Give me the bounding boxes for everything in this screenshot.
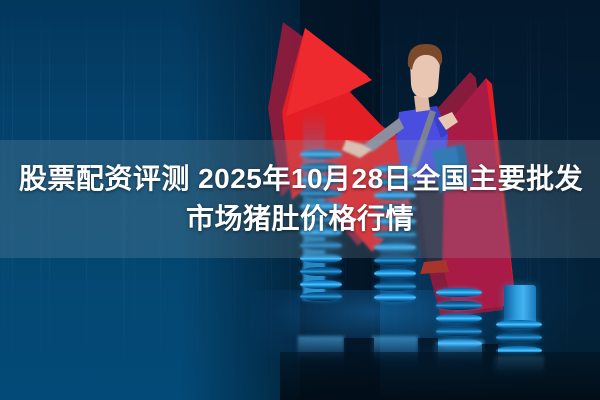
banner-image: 股票配资评测 2025年10月28日全国主要批发 市场猪肚价格行情 [0, 0, 600, 400]
headline: 股票配资评测 2025年10月28日全国主要批发 市场猪肚价格行情 [0, 140, 600, 258]
headline-line-2: 市场猪肚价格行情 [186, 202, 414, 236]
person-shoe [420, 260, 449, 274]
headline-line-1: 股票配资评测 2025年10月28日全国主要批发 [17, 162, 583, 196]
floor-foreground [280, 352, 600, 400]
